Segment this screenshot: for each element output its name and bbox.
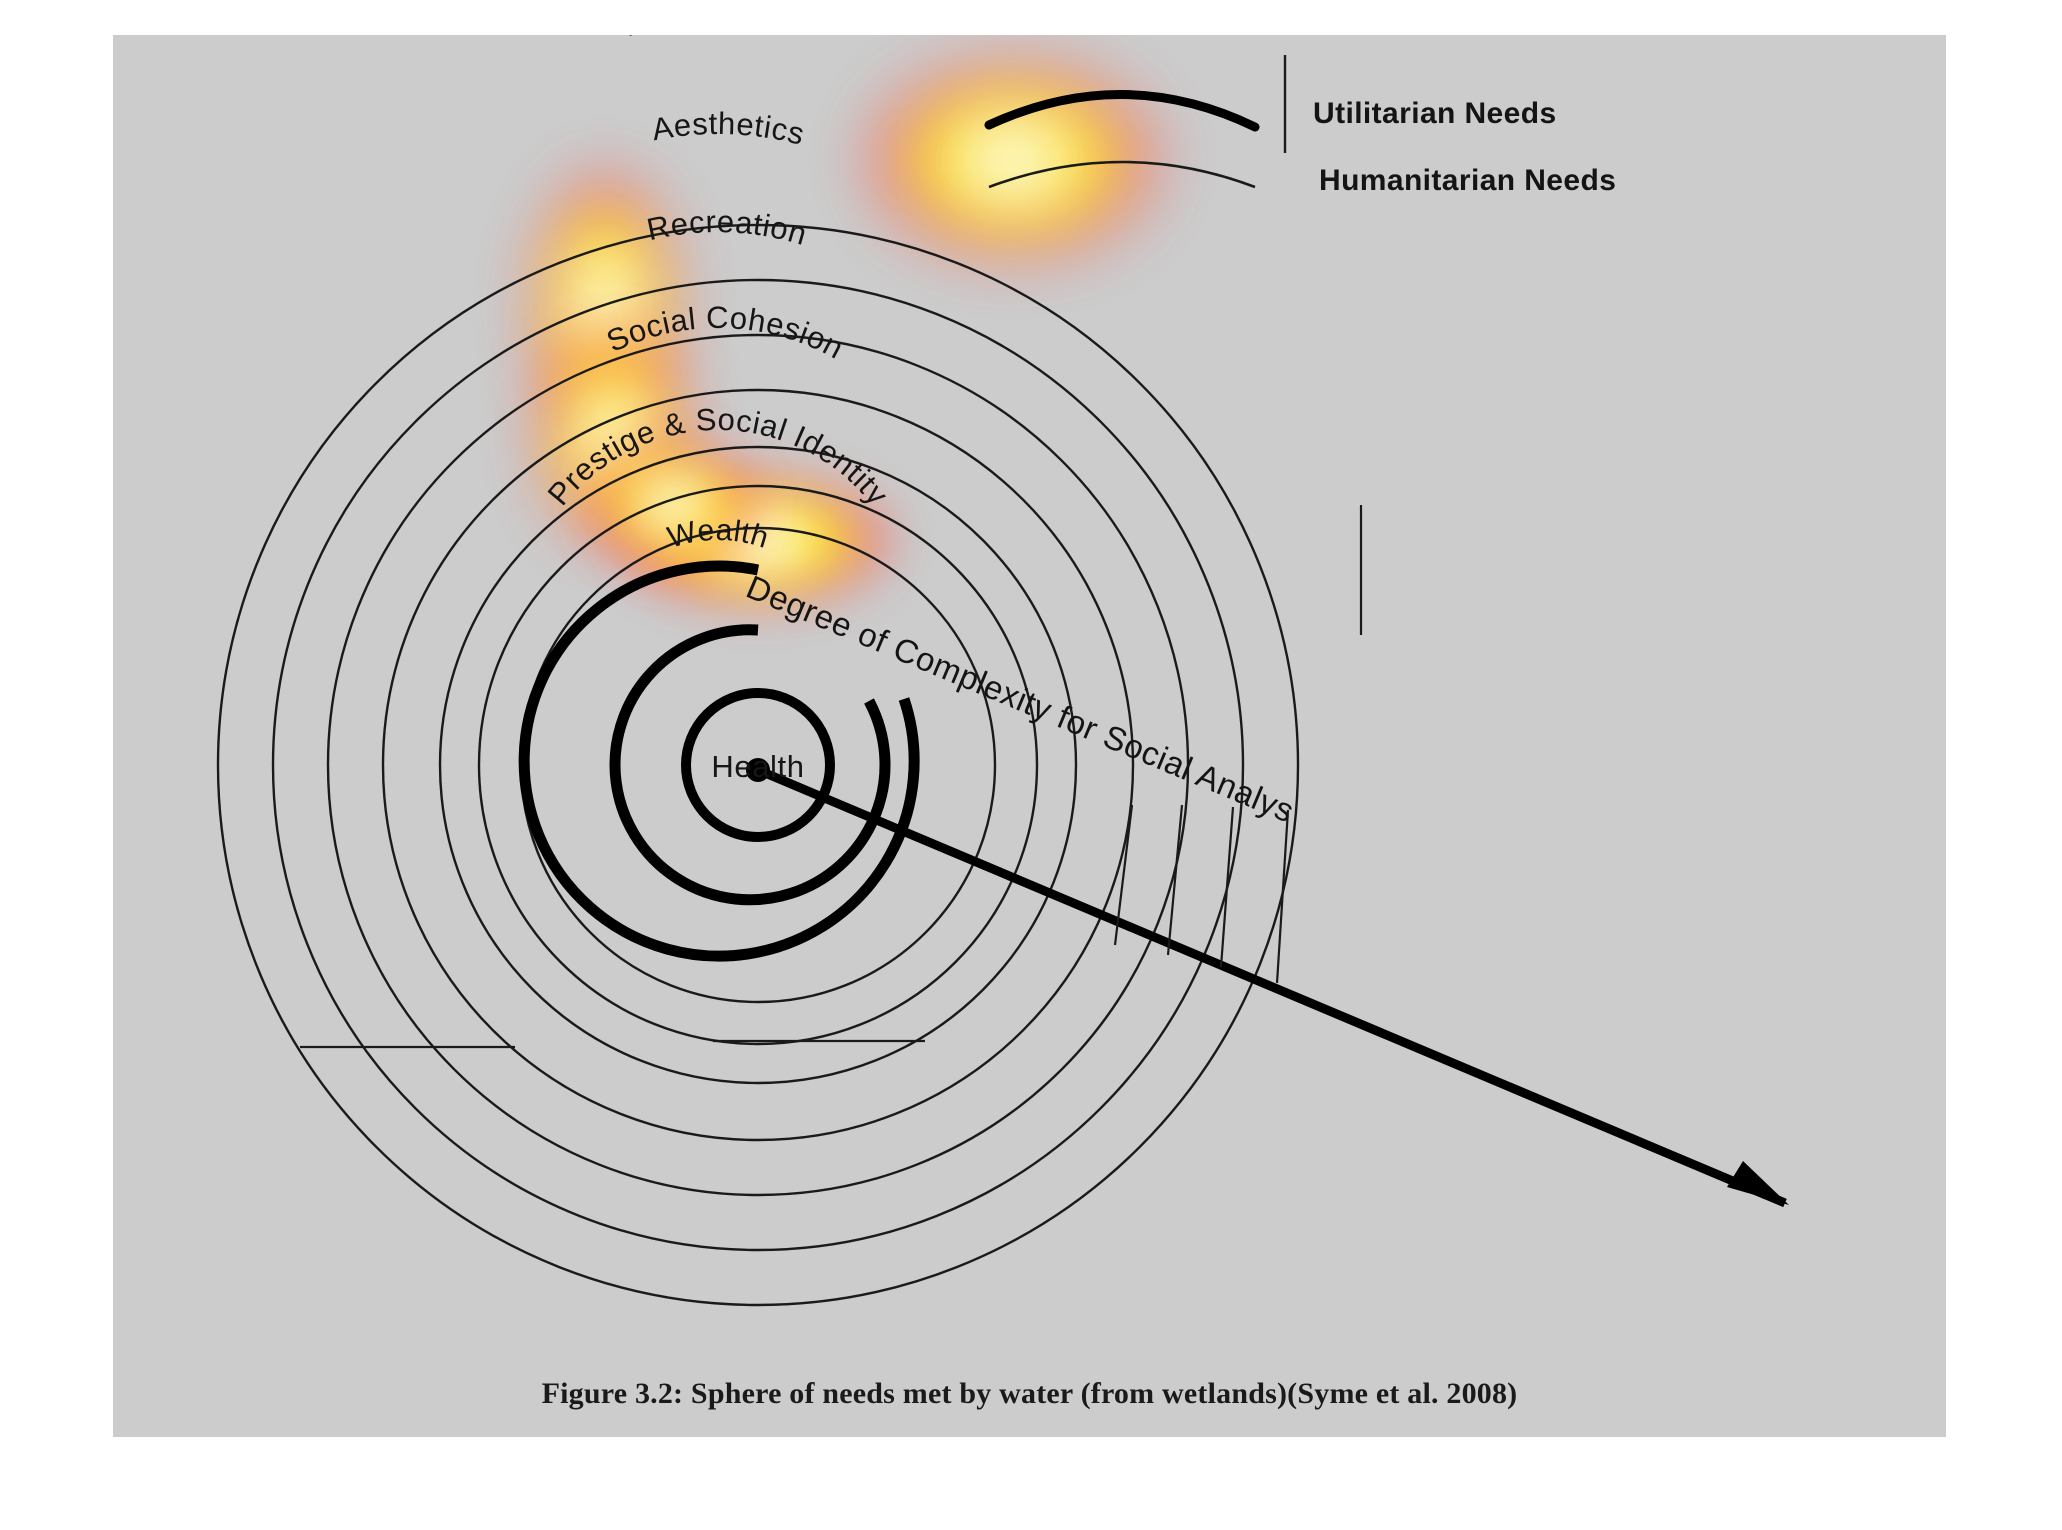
figure-caption-wrap: Figure 3.2: Sphere of needs met by water…: [113, 1377, 1946, 1411]
sphere-of-needs-diagram: Spiritual Moral & Culture Aesthetics Rec…: [113, 35, 1946, 1437]
heat-blob-upper: [848, 45, 1178, 275]
axis-tick: [1277, 810, 1288, 983]
ring-label-aesthetics: Aesthetics: [649, 106, 808, 152]
figure-page: Spiritual Moral & Culture Aesthetics Rec…: [0, 0, 2062, 1530]
axis-tick: [1168, 805, 1182, 955]
ring-label-moral-culture: Moral & Culture: [620, 35, 856, 43]
figure-panel: Spiritual Moral & Culture Aesthetics Rec…: [113, 35, 1946, 1437]
legend-label-utilitarian: Utilitarian Needs: [1313, 97, 1557, 130]
axis-line: [758, 770, 1785, 1203]
axis-tick: [1221, 807, 1233, 967]
complexity-axis: [758, 770, 1789, 1205]
ring-label-health: Health: [711, 749, 804, 784]
axis-arrowhead: [1727, 1161, 1789, 1205]
legend-label-humanitarian: Humanitarian Needs: [1319, 164, 1616, 197]
figure-caption: Figure 3.2: Sphere of needs met by water…: [542, 1377, 1518, 1410]
